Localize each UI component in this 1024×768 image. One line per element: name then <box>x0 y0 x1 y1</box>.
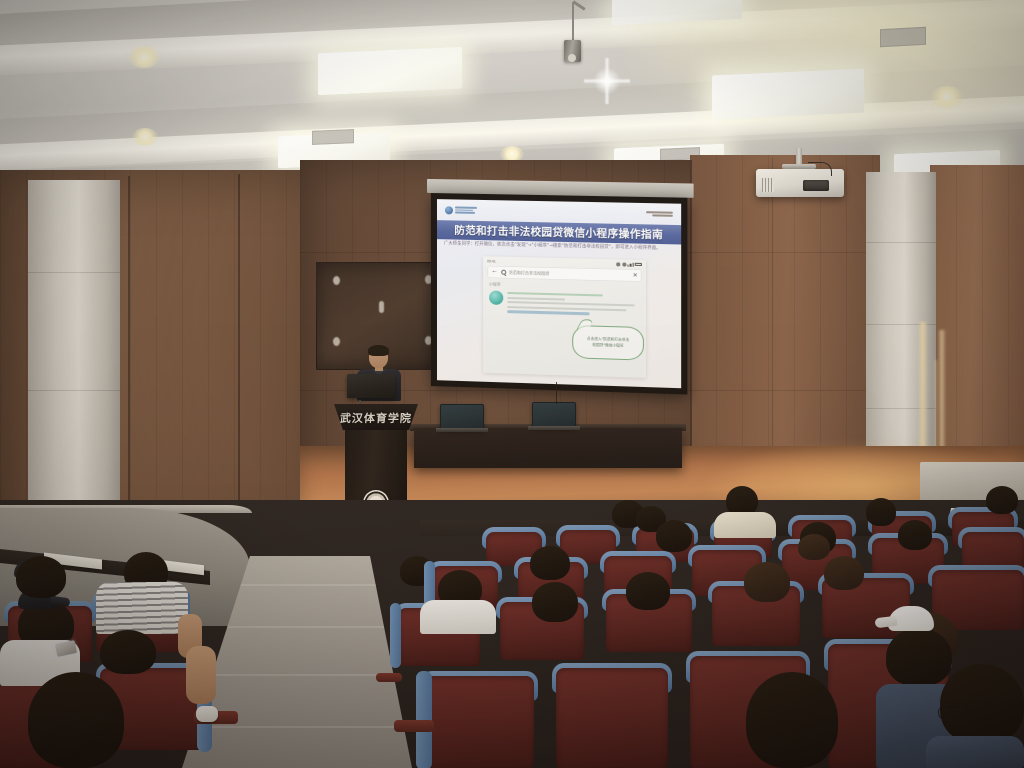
conference-table <box>414 428 682 468</box>
microphone-stand <box>556 382 557 404</box>
phone-screenshot: 09:41 ← 防范和打击非法校园贷 <box>483 256 646 378</box>
back-arrow-icon[interactable]: ← <box>491 269 498 276</box>
table-laptop <box>440 404 484 430</box>
table-laptop-base <box>436 428 488 432</box>
audience-leg <box>186 646 216 704</box>
partner-logo <box>646 211 673 216</box>
callout-line-1: 点击进入"防范和打击非法 <box>587 337 629 343</box>
auditorium-seat[interactable] <box>556 668 668 768</box>
audience-head <box>656 520 692 552</box>
audience-head-capped <box>886 628 952 686</box>
audience-head <box>798 534 830 560</box>
callout-line-2: 校园贷"微信小程序 <box>592 343 623 348</box>
ceiling-projector <box>756 166 844 200</box>
audience-head <box>532 582 578 622</box>
ceiling-spot-light <box>132 128 158 146</box>
pillar-left <box>28 180 120 540</box>
ceiling-spot-light <box>128 46 160 68</box>
lecture-hall-photo: 防范和打击非法校园贷微信小程序操作指南 广大师生同学：打开微信，依次点击"发现"… <box>0 0 1024 768</box>
ceiling-panel-light <box>712 69 864 120</box>
ceiling-vent <box>312 129 354 145</box>
projector-vent <box>762 178 774 192</box>
projector-cable <box>808 162 832 176</box>
slide-title: 防范和打击非法校园贷微信小程序操作指南 <box>437 220 681 244</box>
audience-head <box>530 546 570 580</box>
audience-head <box>746 672 838 768</box>
signal-icon <box>628 262 633 266</box>
projector-lens <box>803 180 829 191</box>
audience-shoulders-striped <box>96 582 188 634</box>
presentation-slide: 防范和打击非法校园贷微信小程序操作指南 广大师生同学：打开微信，依次点击"发现"… <box>437 199 681 388</box>
table-laptop-base <box>528 426 580 430</box>
podium: 武汉体育学院 <box>334 404 418 514</box>
ceiling-spot-light <box>930 86 964 108</box>
table-laptop <box>532 402 576 428</box>
shoe <box>196 706 218 722</box>
white-cap <box>888 606 934 631</box>
audience-head <box>626 572 670 610</box>
projection-screen: 防范和打击非法校园贷微信小程序操作指南 广大师生同学：打开微信，依次点击"发现"… <box>431 193 687 395</box>
callout-bubble: 点击进入"防范和打击非法 校园贷"微信小程序 <box>572 325 644 361</box>
audience-head <box>940 664 1024 744</box>
audience-head <box>898 520 932 550</box>
mini-program-avatar <box>489 291 503 305</box>
podium-inscription: 武汉体育学院 <box>337 410 414 425</box>
institution-logo <box>445 206 477 215</box>
lens-flare <box>584 58 630 104</box>
ceiling-vent <box>880 27 926 47</box>
wall-seam <box>128 176 130 546</box>
audience-head <box>744 562 790 602</box>
audience-head <box>100 630 156 674</box>
status-time: 09:41 <box>487 259 496 263</box>
bluetooth-icon <box>622 262 626 266</box>
presenter-laptop <box>347 374 395 398</box>
audience-head <box>16 556 66 598</box>
close-icon[interactable]: ✕ <box>633 272 638 278</box>
audience-shoulders <box>714 512 776 538</box>
search-input[interactable]: 防范和打击非法校园贷 <box>509 269 630 278</box>
wall-seam <box>238 174 240 544</box>
audience-shoulders <box>926 736 1024 768</box>
phone-search-bar[interactable]: ← 防范和打击非法校园贷 ✕ <box>488 266 641 281</box>
audience-shoulders <box>420 600 496 634</box>
ceiling-panel-light <box>318 47 462 96</box>
section-label: 小程序 <box>489 281 646 291</box>
battery-icon <box>635 263 642 267</box>
hanging-camera <box>560 2 586 68</box>
audience-head <box>28 672 124 768</box>
mini-program-result[interactable] <box>489 291 640 317</box>
search-icon <box>501 270 506 275</box>
audience-head <box>866 498 896 526</box>
auditorium-seat[interactable] <box>424 676 534 768</box>
audience-head <box>824 556 864 590</box>
audience-head <box>986 486 1018 514</box>
alarm-icon <box>616 262 620 266</box>
